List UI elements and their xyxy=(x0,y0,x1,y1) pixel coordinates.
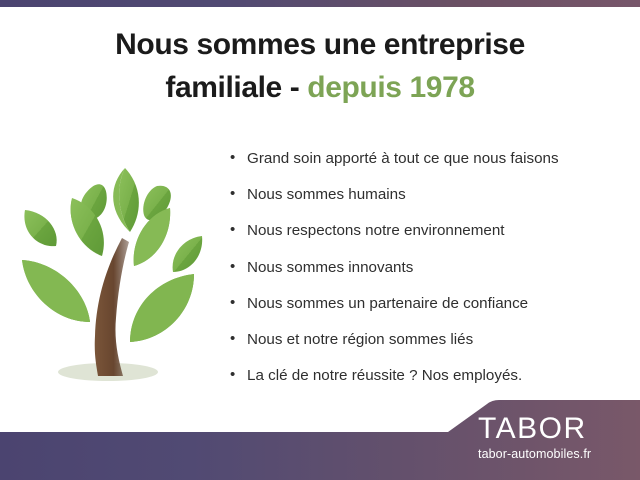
headline-accent-year: depuis 1978 xyxy=(307,71,474,104)
tree-illustration xyxy=(10,150,220,390)
brand-logo[interactable]: TABOR tabor-automobiles.fr xyxy=(478,414,638,461)
slide-canvas: Nous sommes une entreprise familiale - d… xyxy=(0,0,640,480)
tree-trunk xyxy=(95,238,129,376)
headline-line-2: familiale - depuis 1978 xyxy=(0,67,640,110)
benefits-list: Grand soin apporté à tout ce que nous fa… xyxy=(228,150,628,404)
list-item: Grand soin apporté à tout ce que nous fa… xyxy=(228,150,628,168)
list-item: Nous respectons notre environnement xyxy=(228,222,628,240)
top-accent-strip xyxy=(0,0,640,7)
logo-wordmark: TABOR xyxy=(478,414,638,444)
list-item: La clé de notre réussite ? Nos employés. xyxy=(228,367,628,385)
logo-url: tabor-automobiles.fr xyxy=(478,448,638,461)
list-item: Nous sommes humains xyxy=(228,186,628,204)
page-title: Nous sommes une entreprise familiale - d… xyxy=(0,24,640,109)
list-item: Nous sommes un partenaire de confiance xyxy=(228,295,628,313)
headline-line-2-plain: familiale - xyxy=(165,71,307,104)
headline-line-1: Nous sommes une entreprise xyxy=(115,28,525,61)
list-item: Nous sommes innovants xyxy=(228,259,628,277)
list-item: Nous et notre région sommes liés xyxy=(228,331,628,349)
